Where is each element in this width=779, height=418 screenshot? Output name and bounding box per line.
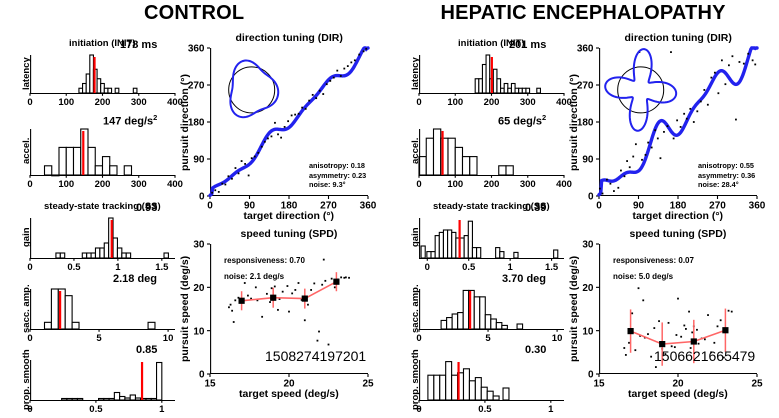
histogram-ylabel-proportion-smooth: prop. smooth (410, 349, 421, 410)
record-id-code: 1506621665479 (654, 348, 755, 364)
speed-tuning-xlabel: target speed (deg/s) (628, 388, 728, 400)
record-id-code: 1508274197201 (265, 348, 366, 364)
histogram-panel-latency: 0100200300400 (419, 53, 564, 107)
annotation-line: anisotropy: 0.18 (309, 161, 366, 171)
svg-text:20: 20 (193, 283, 205, 294)
histogram-bars (475, 55, 540, 93)
svg-text:100: 100 (58, 179, 74, 190)
histogram-stat-latency: 178 ms (120, 39, 157, 51)
histogram-panel-gain: 00.511.5 (30, 216, 175, 272)
svg-text:400: 400 (556, 179, 572, 190)
svg-text:15: 15 (204, 379, 216, 390)
svg-text:360: 360 (360, 201, 377, 212)
direction-tuning-xlabel: target direction (°) (633, 210, 724, 222)
histogram-stat-proportion-smooth: 0.85 (136, 344, 157, 356)
svg-text:0: 0 (27, 262, 32, 273)
svg-text:0: 0 (416, 179, 421, 190)
svg-text:300: 300 (520, 179, 536, 190)
speed-tuning-annotation: noise: 2.1 deg/s (224, 272, 284, 281)
histogram-stat-gain: 0.39 (525, 202, 546, 214)
svg-text:0.5: 0.5 (67, 262, 81, 273)
speed-tuning-annotation: noise: 5.0 deg/s (613, 272, 673, 281)
histogram-bars (441, 290, 522, 329)
histogram-svg: 0510 (419, 287, 564, 343)
histogram-panel-acceleration: 0100200300400 (419, 127, 564, 189)
svg-text:1: 1 (507, 262, 513, 273)
svg-text:0: 0 (425, 262, 430, 273)
histogram-svg: 00.51 (30, 358, 175, 414)
svg-text:25: 25 (751, 379, 763, 390)
fit-line (631, 330, 726, 344)
svg-text:300: 300 (131, 97, 147, 108)
histogram-stat-proportion-smooth: 0.30 (525, 344, 546, 356)
svg-text:100: 100 (58, 97, 74, 108)
svg-text:0: 0 (199, 192, 205, 203)
histogram-panel-acceleration: 0100200300400 (30, 127, 175, 189)
histogram-bars (428, 362, 509, 400)
direction-tuning-annotations: anisotropy: 0.55asymmetry: 0.36noise: 28… (698, 161, 755, 190)
speed-tuning-ylabel: pursuit speed (deg/s) (568, 256, 580, 362)
svg-text:0: 0 (27, 179, 32, 190)
histogram-panel-gain: 00.511.5 (419, 216, 564, 272)
histogram-ylabel-latency: latency (21, 57, 32, 90)
svg-text:10: 10 (552, 333, 563, 344)
svg-text:0: 0 (207, 201, 213, 212)
histogram-svg: 0100200300400 (419, 127, 564, 189)
histogram-svg: 00.511.5 (419, 216, 564, 272)
svg-text:0: 0 (199, 370, 205, 381)
histogram-ylabel-gain: gain (21, 227, 32, 247)
histogram-svg: 0510 (30, 287, 175, 343)
annotation-line: noise: 9.3° (309, 180, 366, 190)
speed-tuning-ylabel: pursuit speed (deg/s) (179, 256, 191, 362)
histogram-svg: 00.51 (419, 358, 564, 414)
histogram-stat-saccade-amplitude: 2.18 deg (113, 273, 157, 285)
histogram-bars (419, 129, 513, 175)
svg-text:200: 200 (95, 179, 111, 190)
group-title-hepatic-encephalopathy: HEPATIC ENCEPHALOPATHY (441, 2, 726, 25)
annotation-line: asymmetry: 0.23 (309, 171, 366, 181)
svg-text:0.5: 0.5 (89, 404, 103, 415)
svg-text:0: 0 (27, 97, 32, 108)
histogram-svg: 0100200300400 (30, 127, 175, 189)
annotation-line: noise: 28.4° (698, 180, 755, 190)
svg-text:0: 0 (596, 201, 602, 212)
histogram-bars (45, 129, 132, 176)
svg-text:20: 20 (582, 283, 594, 294)
svg-text:0.5: 0.5 (478, 404, 492, 415)
histogram-ylabel-gain: gain (410, 227, 421, 247)
anisotropy-polar-inset (229, 61, 279, 118)
svg-text:1.5: 1.5 (155, 262, 169, 273)
group-title-control: CONTROL (144, 2, 244, 25)
svg-text:10: 10 (193, 326, 205, 337)
svg-text:5: 5 (485, 333, 491, 344)
direction-tuning-title: direction tuning (DIR) (236, 32, 343, 44)
svg-text:360: 360 (577, 44, 594, 55)
svg-text:300: 300 (520, 97, 536, 108)
histogram-stat-acceleration: 147 deg/s2 (103, 113, 157, 128)
figure-canvas: CONTROL0100200300400latencyinitiation (I… (0, 0, 779, 418)
histogram-stat-gain: 0.93 (136, 202, 157, 214)
histogram-bars (79, 55, 137, 93)
histogram-ylabel-acceleration: accel. (410, 138, 421, 164)
svg-text:0: 0 (27, 333, 32, 344)
histogram-panel-saccade-amplitude: 0510 (419, 287, 564, 343)
histogram-panel-latency: 0100200300400 (30, 53, 175, 107)
histogram-svg: 00.511.5 (30, 216, 175, 272)
svg-text:100: 100 (447, 97, 463, 108)
svg-text:0.5: 0.5 (462, 262, 476, 273)
svg-text:0: 0 (416, 97, 421, 108)
svg-text:10: 10 (582, 326, 594, 337)
svg-text:30: 30 (582, 240, 594, 251)
svg-text:300: 300 (131, 179, 147, 190)
svg-text:400: 400 (167, 179, 183, 190)
histogram-stat-acceleration: 65 deg/s2 (498, 113, 546, 128)
histogram-ylabel-acceleration: accel. (21, 138, 32, 164)
histogram-svg: 0100200300400 (419, 53, 564, 107)
svg-text:360: 360 (749, 201, 766, 212)
direction-tuning-annotations: anisotropy: 0.18asymmetry: 0.23noise: 9.… (309, 161, 366, 190)
direction-tuning-ylabel: pursuit direction (°) (568, 74, 580, 171)
annotation-line: asymmetry: 0.36 (698, 171, 755, 181)
svg-text:1.5: 1.5 (545, 262, 559, 273)
speed-tuning-xlabel: target speed (deg/s) (239, 388, 339, 400)
histogram-bars (62, 363, 162, 401)
histogram-bars (421, 221, 558, 258)
histogram-stat-latency: 201 ms (509, 39, 546, 51)
speed-tuning-title: speed tuning (SPD) (241, 228, 338, 240)
anisotropy-polar-inset (605, 49, 676, 131)
svg-text:360: 360 (188, 44, 205, 55)
histogram-stat-saccade-amplitude: 3.70 deg (502, 273, 546, 285)
svg-text:90: 90 (582, 155, 594, 166)
svg-text:15: 15 (593, 379, 605, 390)
direction-tuning-xlabel: target direction (°) (244, 210, 335, 222)
speed-tuning-annotation: responsiveness: 0.70 (224, 256, 305, 265)
svg-text:0: 0 (416, 333, 421, 344)
svg-text:200: 200 (95, 97, 111, 108)
svg-text:200: 200 (484, 97, 500, 108)
svg-text:200: 200 (484, 179, 500, 190)
svg-text:30: 30 (193, 240, 205, 251)
histogram-ylabel-proportion-smooth: prop. smooth (21, 349, 32, 410)
svg-text:1: 1 (159, 404, 165, 415)
speed-tuning-title: speed tuning (SPD) (630, 228, 727, 240)
histogram-panel-proportion-smooth: 00.51 (419, 358, 564, 414)
svg-text:90: 90 (193, 155, 205, 166)
direction-tuning-ylabel: pursuit direction (°) (179, 74, 191, 171)
svg-text:0: 0 (588, 192, 594, 203)
annotation-line: anisotropy: 0.55 (698, 161, 755, 171)
direction-tuning-title: direction tuning (DIR) (625, 32, 732, 44)
histogram-ylabel-saccade-amplitude: sacc. amp. (410, 284, 421, 333)
histogram-ylabel-latency: latency (410, 57, 421, 90)
histogram-svg: 0100200300400 (30, 53, 175, 107)
histogram-panel-proportion-smooth: 00.51 (30, 358, 175, 414)
histogram-panel-saccade-amplitude: 0510 (30, 287, 175, 343)
svg-text:25: 25 (362, 379, 374, 390)
svg-text:1: 1 (115, 262, 121, 273)
svg-text:0: 0 (588, 370, 594, 381)
svg-text:10: 10 (163, 333, 174, 344)
speed-tuning-annotation: responsiveness: 0.07 (613, 256, 694, 265)
svg-text:5: 5 (96, 333, 102, 344)
svg-text:1: 1 (548, 404, 554, 415)
svg-text:100: 100 (447, 179, 463, 190)
histogram-ylabel-saccade-amplitude: sacc. amp. (21, 284, 32, 333)
